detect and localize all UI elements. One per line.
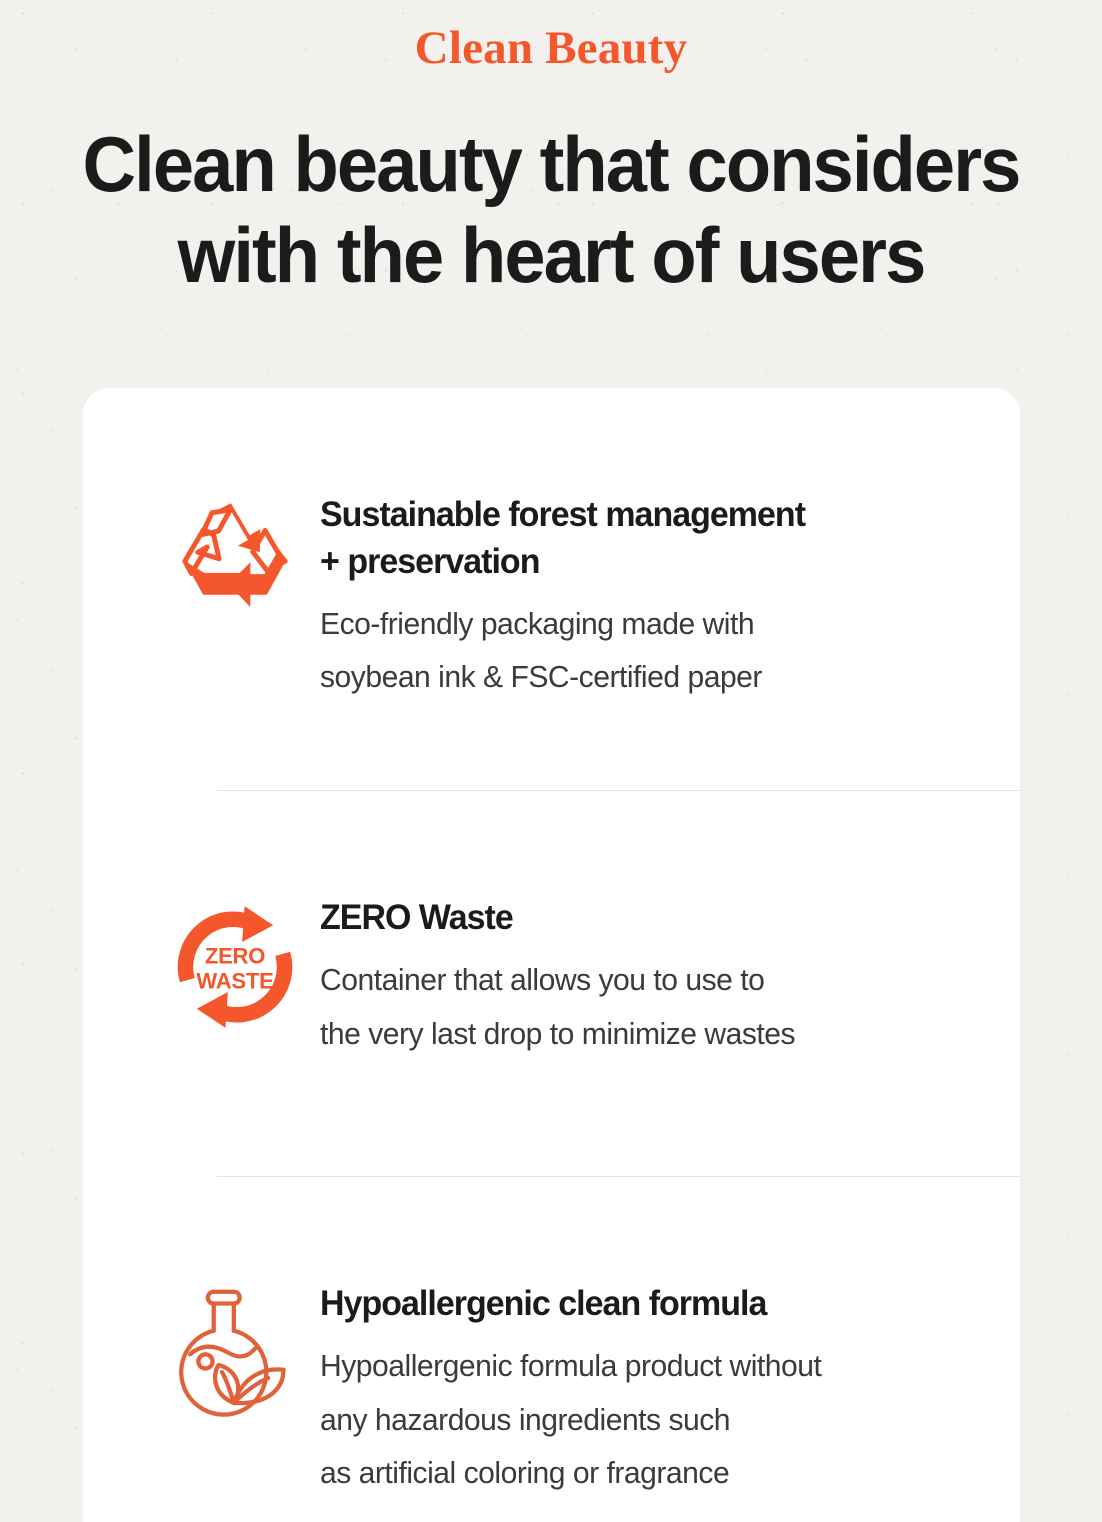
feature-title-line-1: Hypoallergenic clean formula: [320, 1281, 934, 1328]
feature-title: Sustainable forest management + preserva…: [320, 492, 934, 585]
feature-desc-line-1: Hypoallergenic formula product without: [320, 1339, 934, 1392]
feature-item-sustainable-forest: Sustainable forest management + preserva…: [150, 388, 953, 704]
feature-title-line-1: Sustainable forest management: [320, 492, 934, 539]
page-title: Clean beauty that considers with the hea…: [28, 119, 1075, 302]
feature-item-hypoallergenic: Hypoallergenic clean formula Hypoallerge…: [150, 1177, 953, 1499]
page-title-line-2: with the heart of users: [28, 210, 1075, 301]
feature-text-sustainable-forest: Sustainable forest management + preserva…: [320, 492, 953, 704]
feature-desc-line-2: soybean ink & FSC-certified paper: [320, 650, 934, 703]
feature-desc-line-2: any hazardous ingredients such: [320, 1393, 934, 1446]
feature-description: Eco-friendly packaging made with soybean…: [320, 597, 934, 704]
features-card: Sustainable forest management + preserva…: [83, 388, 1020, 1522]
feature-desc-line-1: Container that allows you to use to: [320, 953, 934, 1006]
page-title-line-1: Clean beauty that considers: [28, 119, 1075, 210]
clean-beauty-page: Clean Beauty Clean beauty that considers…: [0, 0, 1102, 1522]
feature-title-line-2: + preservation: [320, 539, 934, 586]
feature-text-zero-waste: ZERO Waste Container that allows you to …: [320, 895, 953, 1060]
zero-waste-label-line-2: WASTE: [196, 968, 273, 993]
feature-desc-line-1: Eco-friendly packaging made with: [320, 597, 934, 650]
feature-title: ZERO Waste: [320, 895, 934, 942]
feature-desc-line-3: as artificial coloring or fragrance: [320, 1446, 934, 1499]
flask-leaf-icon: [150, 1281, 320, 1417]
feature-title-line-1: ZERO Waste: [320, 895, 934, 942]
feature-title: Hypoallergenic clean formula: [320, 1281, 934, 1328]
feature-desc-line-2: the very last drop to minimize wastes: [320, 1007, 934, 1060]
feature-text-hypoallergenic: Hypoallergenic clean formula Hypoallerge…: [320, 1281, 953, 1499]
feature-description: Container that allows you to use to the …: [320, 953, 934, 1060]
zero-waste-icon: ZERO WASTE: [150, 895, 320, 1033]
feature-description: Hypoallergenic formula product without a…: [320, 1339, 934, 1499]
page-eyebrow: Clean Beauty: [0, 0, 1102, 75]
zero-waste-label-line-1: ZERO: [205, 943, 265, 968]
feature-item-zero-waste: ZERO WASTE ZERO Waste Container that all…: [150, 791, 953, 1060]
recycle-icon: [150, 492, 320, 616]
